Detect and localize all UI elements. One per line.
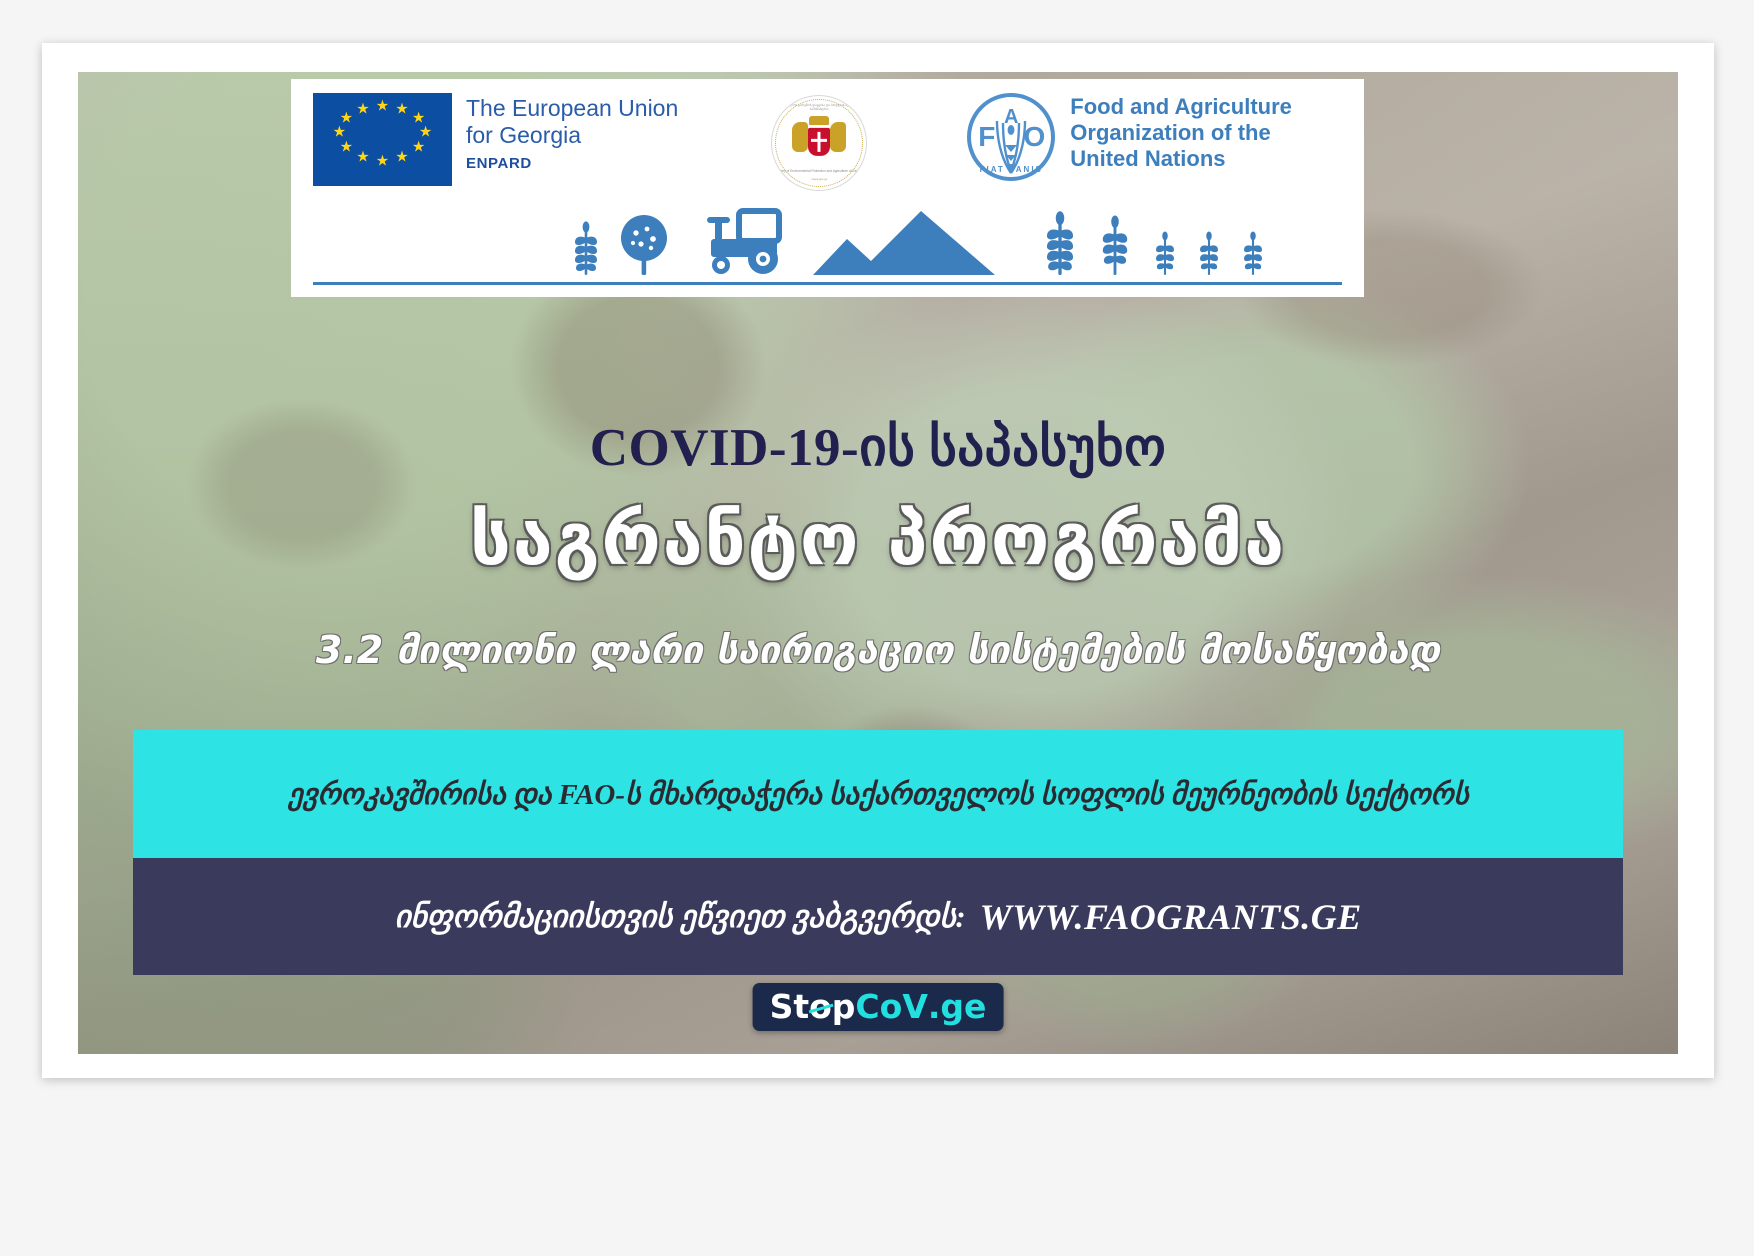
website-url[interactable]: WWW.FAOGRANTS.GE — [980, 896, 1362, 938]
fruit-tree-icon — [613, 213, 675, 275]
fao-line3: United Nations — [1070, 146, 1292, 172]
fao-logo-block: A F O — [967, 93, 1292, 181]
wheat-small-icon — [1197, 231, 1221, 275]
headline-grant-program: საგრანტო პროგრამა — [78, 497, 1678, 581]
headline-covid: COVID-19-ის საპასუხო — [78, 417, 1678, 478]
background-photo: ★ ★ ★ ★ ★ ★ ★ ★ ★ ★ ★ ★ — [78, 72, 1678, 1054]
fao-letter-f: F — [978, 121, 995, 153]
wheat-tall-icon — [1099, 215, 1131, 275]
logo-row: ★ ★ ★ ★ ★ ★ ★ ★ ★ ★ ★ ★ — [313, 93, 1342, 197]
info-band-website: ინფორმაციისთვის ეწვიეთ ვაბგვერდს: WWW.FA… — [133, 858, 1623, 975]
stopcov-part4: CoV — [855, 990, 927, 1023]
seal-lion-left — [792, 122, 808, 152]
eu-logo-block: ★ ★ ★ ★ ★ ★ ★ ★ ★ ★ ★ ★ — [313, 93, 678, 186]
eu-text-block: The European Union for Georgia ENPARD — [466, 93, 678, 172]
seal-ring-top-text: საქართველოს გარემოს დაცვისა და სოფლის მე… — [772, 103, 866, 111]
subhead-amount: 3.2 მილიონი ლარი საირიგაციო სისტემების მ… — [78, 628, 1678, 672]
eu-line1: The European Union — [466, 95, 678, 122]
seal-ring-bottom-text: Ministry of Environmental Protection and… — [772, 169, 866, 173]
stopcov-badge[interactable]: St o p CoV .ge — [753, 983, 1004, 1031]
wheat-small-icon — [1153, 231, 1177, 275]
seal-ring-url-text: mepa.gov.ge — [772, 178, 866, 181]
enpard-label: ENPARD — [466, 155, 678, 172]
stopcov-part2: o — [809, 990, 832, 1023]
info-band-support: ევროკავშირისა და FAO-ს მხარდაჭერა საქართ… — [133, 730, 1623, 858]
fao-line1: Food and Agriculture — [1070, 94, 1292, 120]
poster-root: ★ ★ ★ ★ ★ ★ ★ ★ ★ ★ ★ ★ — [0, 0, 1754, 1256]
georgia-ministry-seal-icon: საქართველოს გარემოს დაცვისა და სოფლის მე… — [771, 95, 867, 191]
poster-content: ★ ★ ★ ★ ★ ★ ★ ★ ★ ★ ★ ★ — [78, 72, 1678, 1054]
seal-lion-right — [830, 122, 846, 152]
stopcov-part3: p — [832, 990, 856, 1023]
stopcov-part1: St — [770, 990, 810, 1023]
seal-crown — [809, 116, 829, 125]
info-band-support-text: ევროკავშირისა და FAO-ს მხარდაჭერა საქართ… — [288, 777, 1469, 812]
seal-shield — [808, 128, 830, 156]
stopcov-part5: .ge — [928, 990, 987, 1023]
partner-logo-bar: ★ ★ ★ ★ ★ ★ ★ ★ ★ ★ ★ ★ — [291, 79, 1364, 297]
fao-emblem-icon: A F O — [967, 93, 1055, 181]
wheat-small-icon — [573, 221, 599, 275]
eu-flag-icon: ★ ★ ★ ★ ★ ★ ★ ★ ★ ★ ★ ★ — [313, 93, 452, 186]
agriculture-icon-strip — [313, 205, 1342, 275]
wheat-tall-icon — [1043, 211, 1077, 275]
fao-text-block: Food and Agriculture Organization of the… — [1070, 93, 1292, 173]
logo-bar-rule — [313, 282, 1342, 285]
eu-line2: for Georgia — [466, 122, 678, 149]
fao-line2: Organization of the — [1070, 120, 1292, 146]
tractor-icon — [701, 207, 787, 275]
wheat-small-icon — [1241, 231, 1265, 275]
mountains-icon — [813, 209, 1025, 275]
poster-card: ★ ★ ★ ★ ★ ★ ★ ★ ★ ★ ★ ★ — [42, 43, 1714, 1078]
fao-motto: FIAT PANIS — [971, 165, 1051, 174]
info-band-website-prefix: ინფორმაციისთვის ეწვიეთ ვაბგვერდს: — [394, 899, 965, 935]
